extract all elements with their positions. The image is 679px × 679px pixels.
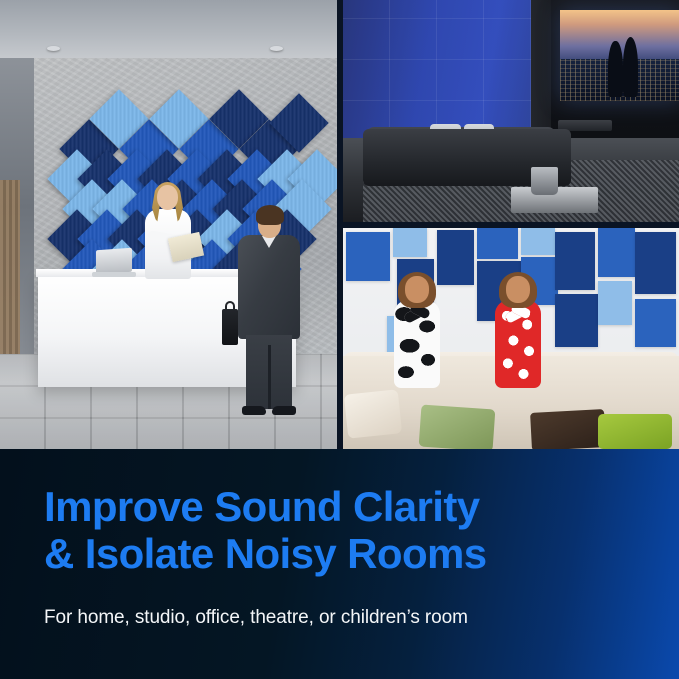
screen-silhouette-figure xyxy=(623,37,639,97)
acoustic-square-panel xyxy=(598,281,632,325)
page-subtitle: For home, studio, office, theatre, or ch… xyxy=(44,605,644,631)
page-title: Improve Sound Clarity & Isolate Noisy Ro… xyxy=(44,483,644,577)
children-room-image xyxy=(343,228,679,449)
businessman-suit xyxy=(238,235,300,339)
acoustic-square-panel xyxy=(477,228,517,259)
home-theatre-image xyxy=(343,0,679,222)
acoustic-square-panel xyxy=(437,230,474,285)
champagne-bucket xyxy=(531,167,558,196)
acoustic-square-panel xyxy=(555,294,599,347)
smoke-detector-icon xyxy=(47,46,60,51)
briefcase xyxy=(222,309,238,345)
acoustic-square-panel xyxy=(555,232,595,289)
image-collage xyxy=(0,0,679,449)
trouser-split xyxy=(268,345,271,409)
product-feature-banner: Improve Sound Clarity & Isolate Noisy Ro… xyxy=(0,0,679,679)
acoustic-square-panel xyxy=(598,228,635,277)
brown-cushion xyxy=(530,410,606,449)
smoke-detector-icon xyxy=(270,46,283,51)
businessman-shoe xyxy=(242,406,266,415)
child-head xyxy=(405,276,429,303)
green-cushion xyxy=(598,414,672,449)
child-head xyxy=(506,276,530,303)
sofa-pillow xyxy=(344,389,402,439)
office-wood-slats xyxy=(0,180,20,370)
receptionist-figure xyxy=(140,185,196,277)
screen-silhouette-figure xyxy=(608,41,623,97)
receptionist-head xyxy=(157,185,178,210)
office-ceiling xyxy=(0,0,337,62)
acoustic-square-panel xyxy=(393,228,427,257)
businessman-hair xyxy=(256,205,284,225)
acoustic-square-panel xyxy=(346,232,390,281)
acoustic-square-panel xyxy=(635,232,675,294)
projector-screen xyxy=(560,10,679,101)
businessman-shoe xyxy=(272,406,296,415)
acoustic-square-panel xyxy=(521,228,555,255)
green-blanket xyxy=(419,404,496,449)
laptop-base xyxy=(92,272,136,277)
businessman-figure xyxy=(236,205,302,415)
laptop-screen xyxy=(96,248,132,275)
office-reception-image xyxy=(0,0,337,449)
acoustic-square-panel xyxy=(635,299,675,348)
